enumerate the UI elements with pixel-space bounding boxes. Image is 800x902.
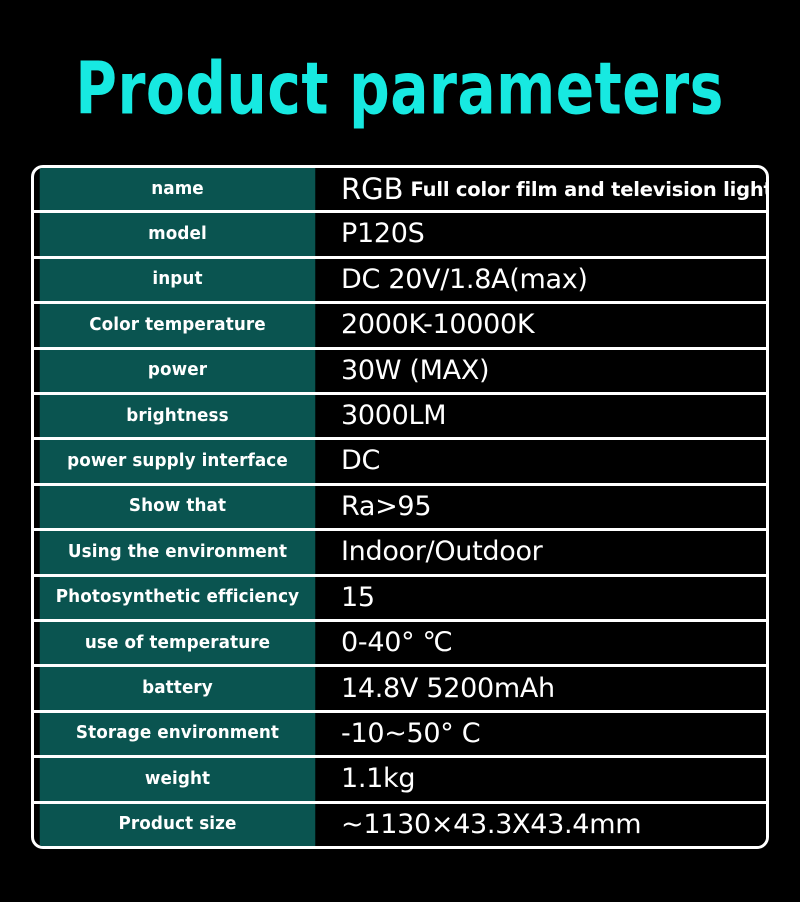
spec-label: input <box>40 259 316 301</box>
spec-label: Storage environment <box>40 713 316 755</box>
spec-value: 14.8V 5200mAh <box>326 667 766 709</box>
spec-label: Show that <box>40 486 316 528</box>
spec-value: 0-40° ℃ <box>326 622 766 664</box>
spec-label: brightness <box>40 395 316 437</box>
table-row: Storage environment -10~50° C <box>34 713 766 758</box>
spec-label: power <box>40 350 316 392</box>
page-title: Product parameters <box>76 54 724 126</box>
spec-value: ~1130×43.3X43.4mm <box>326 804 766 846</box>
spec-label: use of temperature <box>40 622 316 664</box>
spec-value: P120S <box>326 213 766 255</box>
table-row: power 30W (MAX) <box>34 350 766 395</box>
table-row: Color temperature 2000K-10000K <box>34 304 766 349</box>
table-row: power supply interface DC <box>34 440 766 485</box>
spec-value: -10~50° C <box>326 713 766 755</box>
spec-label: weight <box>40 758 316 800</box>
spec-label: model <box>40 213 316 255</box>
spec-label: name <box>40 168 316 210</box>
spec-label: Photosynthetic efficiency <box>40 577 316 619</box>
table-row: model P120S <box>34 213 766 258</box>
spec-value: 2000K-10000K <box>326 304 766 346</box>
spec-value: DC 20V/1.8A(max) <box>326 259 766 301</box>
spec-value: DC <box>326 440 766 482</box>
spec-label: Product size <box>40 804 316 846</box>
spec-value-secondary: Full color film and television lights <box>411 180 766 200</box>
spec-value-primary: RGB <box>341 174 404 204</box>
spec-value: 15 <box>326 577 766 619</box>
table-row: battery 14.8V 5200mAh <box>34 667 766 712</box>
spec-value: Indoor/Outdoor <box>326 531 766 573</box>
spec-value: 1.1kg <box>326 758 766 800</box>
table-row: input DC 20V/1.8A(max) <box>34 259 766 304</box>
table-row: brightness 3000LM <box>34 395 766 440</box>
table-row: weight 1.1kg <box>34 758 766 803</box>
spec-value: 30W (MAX) <box>326 350 766 392</box>
spec-label: battery <box>40 667 316 709</box>
table-row: Show that Ra>95 <box>34 486 766 531</box>
table-row: use of temperature 0-40° ℃ <box>34 622 766 667</box>
table-row: Using the environment Indoor/Outdoor <box>34 531 766 576</box>
spec-value: RGB Full color film and television light… <box>326 168 766 210</box>
table-row: Photosynthetic efficiency 15 <box>34 577 766 622</box>
spec-label: Using the environment <box>40 531 316 573</box>
title-section: Product parameters <box>0 0 800 165</box>
spec-label: power supply interface <box>40 440 316 482</box>
product-parameters-table: name RGB Full color film and television … <box>31 165 769 849</box>
table-row: name RGB Full color film and television … <box>34 168 766 213</box>
spec-value: Ra>95 <box>326 486 766 528</box>
spec-value: 3000LM <box>326 395 766 437</box>
spec-label: Color temperature <box>40 304 316 346</box>
table-row: Product size ~1130×43.3X43.4mm <box>34 804 766 846</box>
